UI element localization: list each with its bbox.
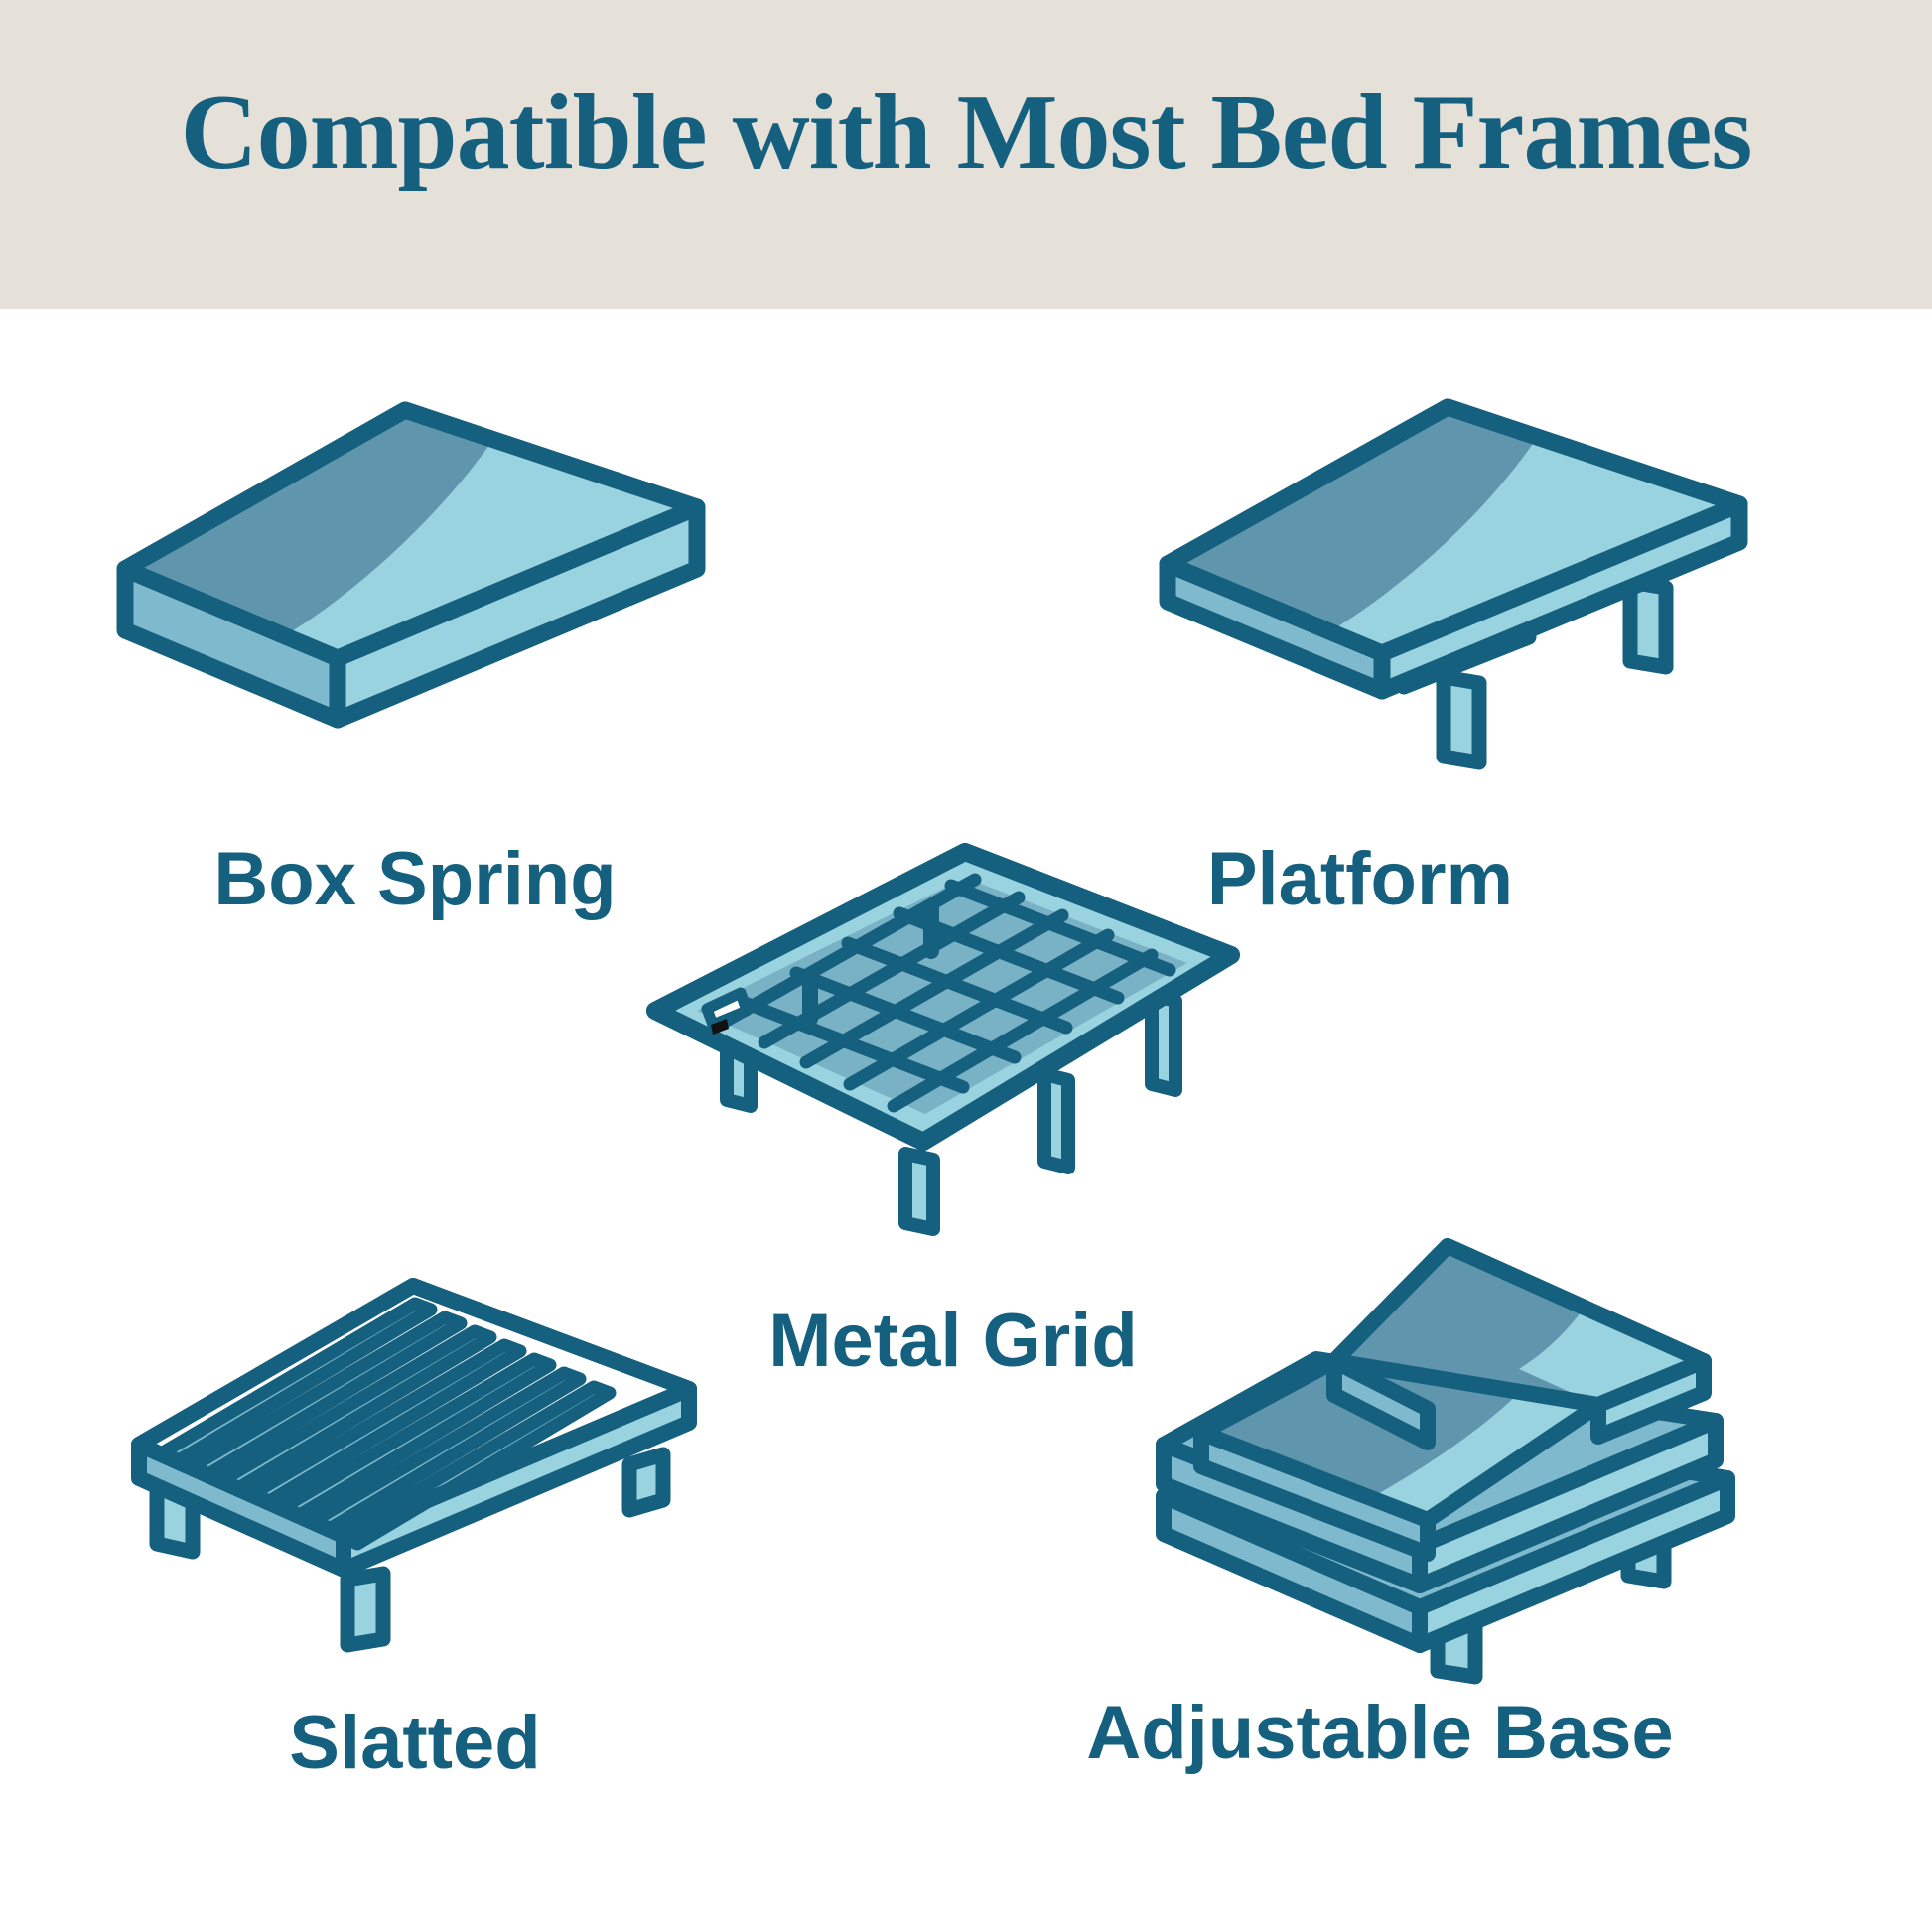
platform-leg-front: [1444, 677, 1479, 762]
caption-slatted: Slatted: [58, 1703, 772, 1784]
infographic-canvas: Compatible with Most Bed Frames Box Spri…: [0, 0, 1932, 1932]
illustration-metal-grid: [635, 844, 1271, 1231]
caption-adjustable-base: Adjustable Base: [1023, 1693, 1737, 1774]
illustration-platform: [1160, 397, 1755, 735]
header-band: Compatible with Most Bed Frames: [0, 0, 1932, 309]
illustration-adjustable-base: [1140, 1236, 1755, 1673]
illustration-box-spring: [117, 402, 713, 720]
platform-icon: [1160, 397, 1755, 735]
illustration-slatted: [127, 1276, 703, 1643]
adjustable-base-icon: [1140, 1236, 1755, 1673]
metal-grid-icon: [635, 844, 1271, 1231]
slatted-icon: [127, 1276, 703, 1643]
page-title: Compatible with Most Bed Frames: [0, 77, 1932, 189]
box-spring-icon: [117, 402, 713, 720]
platform-leg-right: [1630, 582, 1666, 667]
